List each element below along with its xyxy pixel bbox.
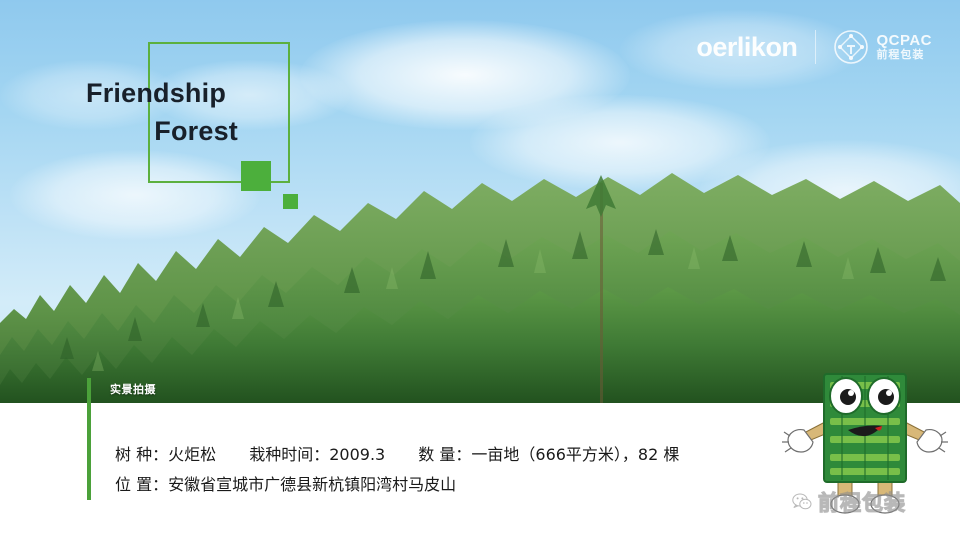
- planted-date-value: 2009.3: [329, 445, 385, 464]
- qcpac-name-cn: 前程包装: [876, 50, 932, 61]
- wechat-watermark: 前程包装: [792, 487, 906, 517]
- presentation-slide: 实景拍摄 Friendship Forest oerlikon: [0, 0, 960, 540]
- info-row-2: 位 置：安徽省宣城市广德县新杭镇阳湾村马皮山: [115, 470, 707, 500]
- planted-date-field: 栽种时间：2009.3: [249, 445, 385, 464]
- planted-date-label: 栽种时间：: [249, 445, 329, 464]
- location-label: 位 置：: [115, 475, 168, 494]
- brand-bar: oerlikon QCPAC 前程包装: [696, 24, 932, 70]
- quantity-field: 数 量：一亩地（666平方米），82 棵: [418, 445, 679, 464]
- photo-caption: 实景拍摄: [110, 381, 156, 397]
- title-line-1: Friendship: [60, 74, 260, 112]
- page-title: Friendship Forest: [60, 74, 260, 151]
- location-field: 位 置：安徽省宣城市广德县新杭镇阳湾村马皮山: [115, 475, 456, 494]
- species-field: 树 种：火炬松: [115, 445, 216, 464]
- quantity-label: 数 量：: [418, 445, 471, 464]
- watermark-text: 前程包装: [818, 487, 906, 517]
- info-row-1: 树 种：火炬松 栽种时间：2009.3 数 量：一亩地（666平方米），82 棵: [115, 440, 707, 470]
- wechat-icon: [792, 492, 812, 512]
- green-accent-line: [87, 378, 91, 500]
- quantity-value: 一亩地（666平方米），82 棵: [471, 445, 679, 464]
- oerlikon-logo: oerlikon: [696, 34, 797, 61]
- location-value: 安徽省宣城市广德县新杭镇阳湾村马皮山: [168, 475, 456, 494]
- title-line-2: Forest: [60, 112, 260, 150]
- species-value: 火炬松: [168, 445, 216, 464]
- qcpac-logo: QCPAC 前程包装: [834, 30, 932, 64]
- species-label: 树 种：: [115, 445, 168, 464]
- qcpac-name-en: QCPAC: [876, 33, 932, 48]
- green-square-small-decoration: [283, 194, 298, 209]
- green-square-large-decoration: [241, 161, 271, 191]
- cloud-decoration: [300, 20, 630, 130]
- plant-info-block: 树 种：火炬松 栽种时间：2009.3 数 量：一亩地（666平方米），82 棵…: [115, 440, 707, 500]
- qcpac-diamond-icon: [834, 30, 868, 64]
- qcpac-text: QCPAC 前程包装: [876, 33, 932, 61]
- vertical-divider: [815, 30, 816, 64]
